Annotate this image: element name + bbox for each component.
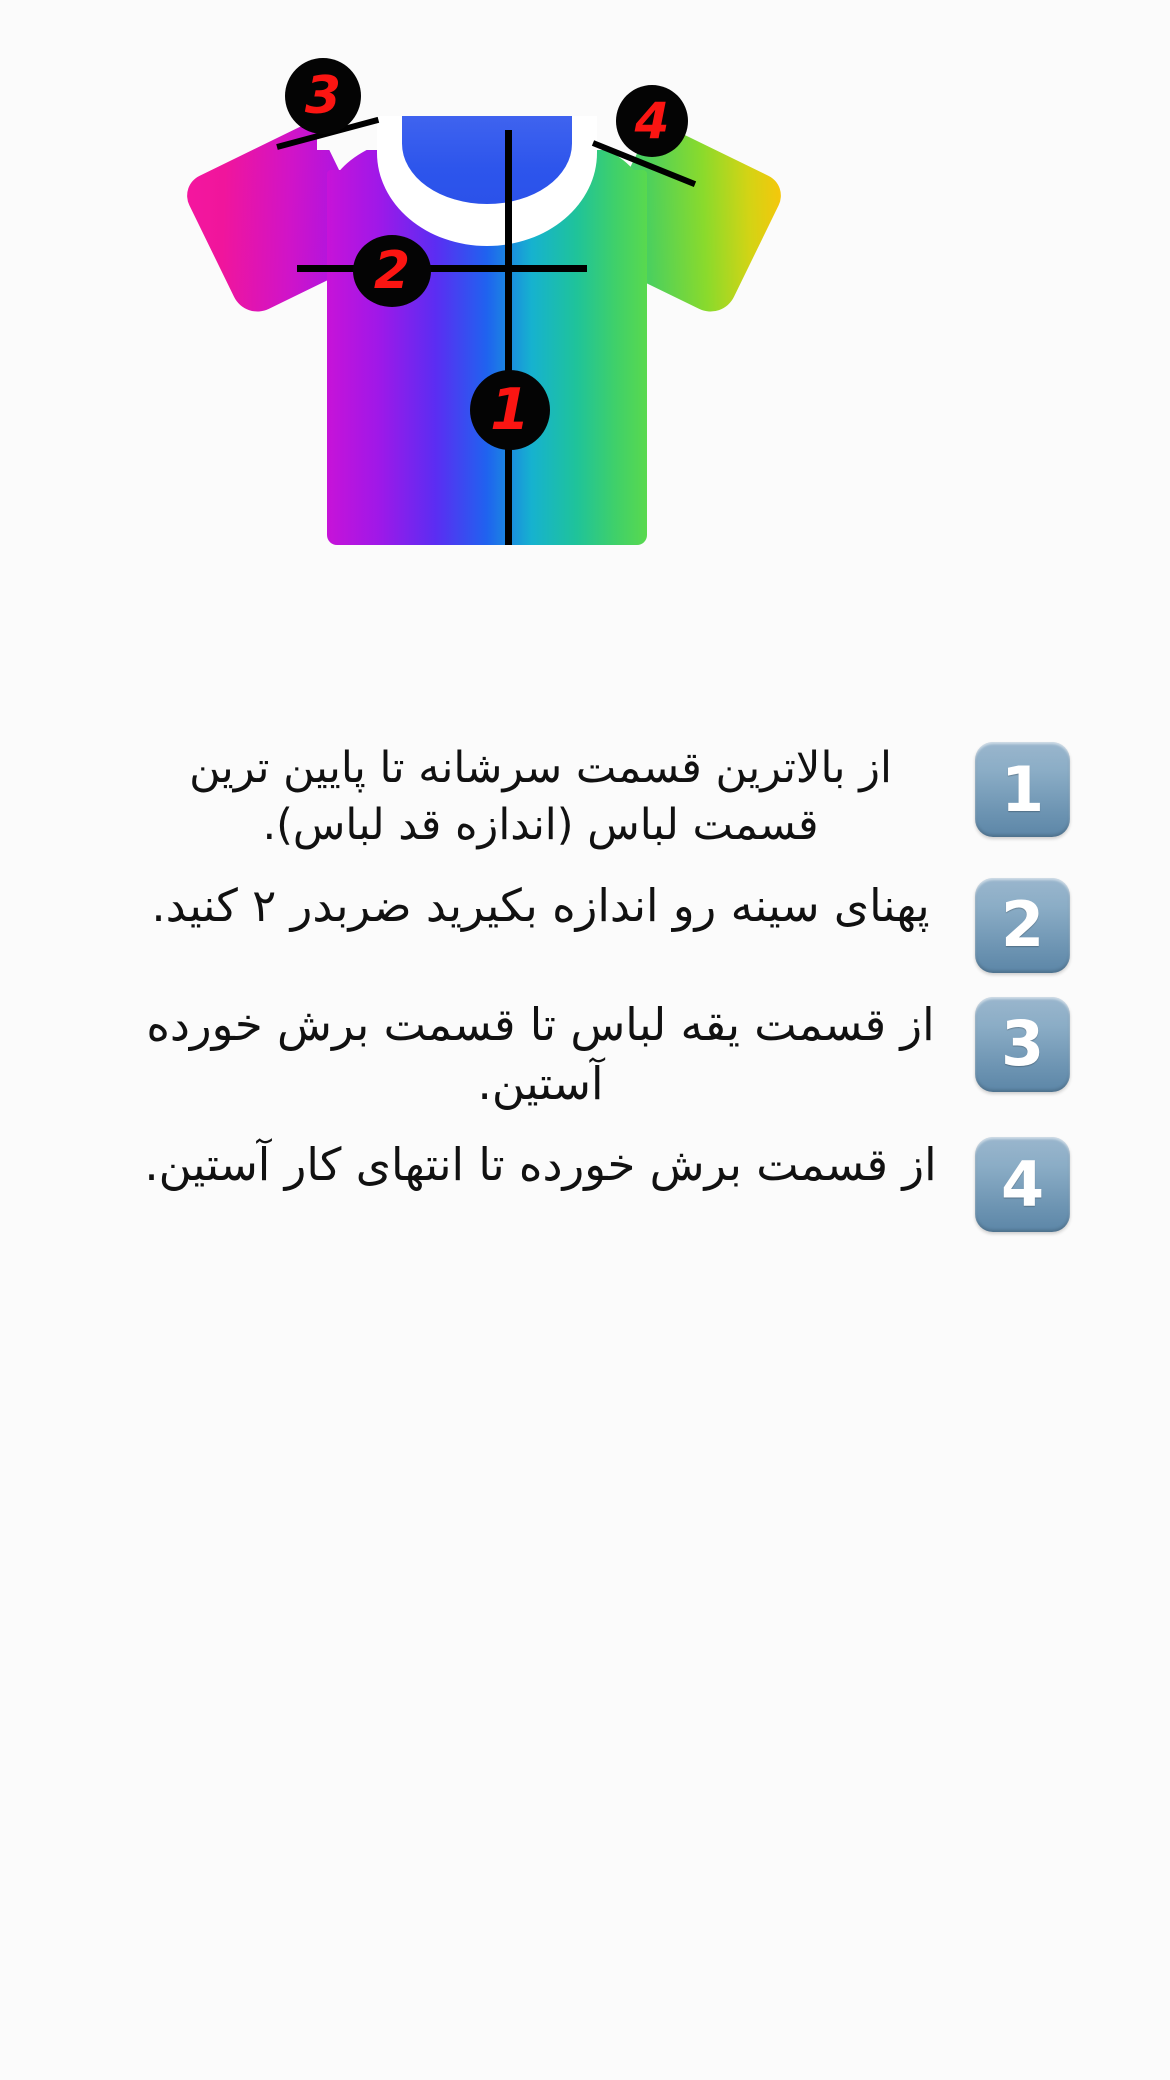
instruction-text-3: از قسمت یقه لباس تا قسمت برش خورده آستین… <box>120 995 975 1114</box>
measurement-guide-page: 1 2 3 4 1 از بالاترین قسمت سرشانه تا پای… <box>0 0 1170 2080</box>
diagram-marker-3-label: 3 <box>305 70 341 122</box>
keycap-badge-2: 2 <box>975 878 1070 973</box>
diagram-marker-1-label: 1 <box>490 382 530 439</box>
keycap-badge-2-label: 2 <box>1001 894 1044 956</box>
instruction-list: 1 از بالاترین قسمت سرشانه تا پایین ترین … <box>0 740 1170 1254</box>
tshirt-stage: 1 2 3 4 <box>205 40 765 560</box>
keycap-badge-4-label: 4 <box>1001 1154 1044 1216</box>
instruction-item-4: 4 از قسمت برش خورده تا انتهای کار آستین. <box>0 1135 1170 1232</box>
instruction-text-4: از قسمت برش خورده تا انتهای کار آستین. <box>120 1135 975 1194</box>
keycap-badge-1-label: 1 <box>1001 759 1044 821</box>
diagram-marker-2-label: 2 <box>374 245 410 297</box>
instruction-item-1: 1 از بالاترین قسمت سرشانه تا پایین ترین … <box>0 740 1170 854</box>
keycap-badge-1: 1 <box>975 742 1070 837</box>
length-guide-line <box>505 130 512 545</box>
diagram-marker-4-label: 4 <box>635 96 670 146</box>
diagram-marker-4: 4 <box>616 85 688 157</box>
instruction-item-3: 3 از قسمت یقه لباس تا قسمت برش خورده آست… <box>0 995 1170 1114</box>
keycap-badge-3-label: 3 <box>1001 1013 1044 1075</box>
tshirt-diagram: 1 2 3 4 <box>0 0 1170 730</box>
keycap-badge-3: 3 <box>975 997 1070 1092</box>
keycap-badge-4: 4 <box>975 1137 1070 1232</box>
chest-width-guide-line <box>297 265 587 272</box>
instruction-item-2: 2 پهنای سینه رو اندازه بکیرید ضربدر ۲ کن… <box>0 876 1170 973</box>
diagram-marker-1: 1 <box>470 370 550 450</box>
diagram-marker-2: 2 <box>353 235 431 307</box>
instruction-text-2: پهنای سینه رو اندازه بکیرید ضربدر ۲ کنید… <box>120 876 975 935</box>
instruction-text-1: از بالاترین قسمت سرشانه تا پایین ترین قس… <box>120 740 975 854</box>
diagram-marker-3: 3 <box>285 58 361 134</box>
